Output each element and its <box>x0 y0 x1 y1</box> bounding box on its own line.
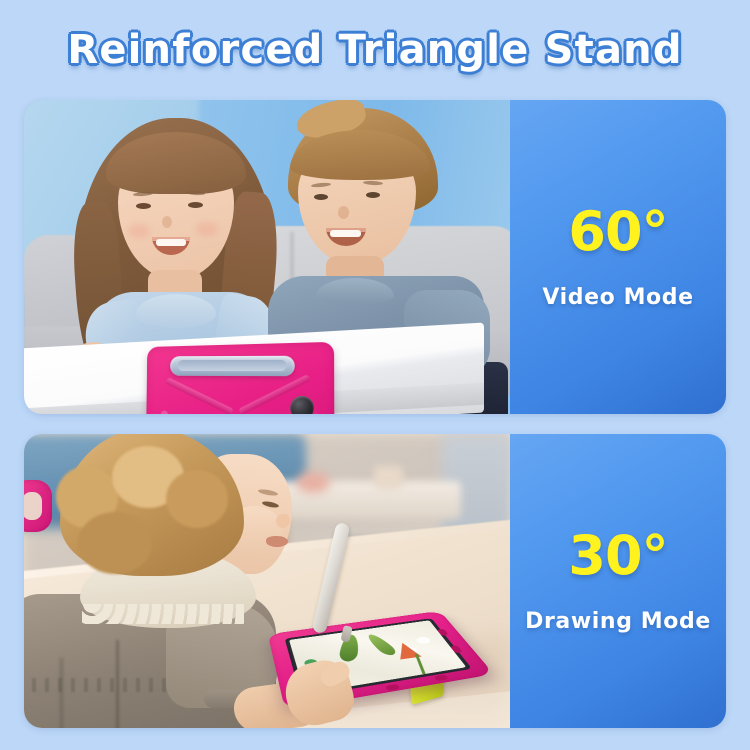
toddler-hair-curl <box>78 512 152 574</box>
toddler-lips <box>266 536 288 547</box>
boy-teeth <box>330 230 361 237</box>
toddler-collar-lace-trim <box>82 604 244 624</box>
vase-background <box>374 466 403 490</box>
feature-panel-drawing-mode: 30° Drawing Mode <box>24 434 726 728</box>
info-block-drawing-mode: 30° Drawing Mode <box>510 434 726 728</box>
camera-cutout-icon <box>290 396 314 414</box>
boy-eye-right <box>366 192 380 198</box>
girl-dress-collar <box>136 294 216 328</box>
girl-cheek-right <box>196 222 218 236</box>
toddler-nose <box>276 514 290 528</box>
page-title: Reinforced Triangle Stand <box>67 27 682 73</box>
boy-eye-left <box>314 194 328 200</box>
mode-label-video: Video Mode <box>542 285 693 310</box>
scene-living-room <box>24 100 510 414</box>
girl-nose <box>162 216 172 228</box>
mode-label-drawing: Drawing Mode <box>525 609 711 634</box>
girl-eye-left <box>136 203 151 209</box>
girl-eye-right <box>188 202 203 208</box>
girl-cheek-left <box>128 224 150 238</box>
angle-value-60: 60° <box>568 205 667 259</box>
info-block-video-mode: 60° Video Mode <box>510 100 726 414</box>
page-title-container: Reinforced Triangle Stand <box>0 20 750 80</box>
toddler-hair-curl <box>166 470 228 528</box>
photo-toddler-drawing-on-tablet <box>24 434 510 728</box>
pink-tablet-case-standing <box>142 344 332 414</box>
angle-value-30: 30° <box>568 529 667 583</box>
case-carry-handle-inner <box>178 360 287 371</box>
scene-playroom <box>24 434 510 728</box>
boy-nose <box>338 206 349 219</box>
feature-panel-video-mode: 60° Video Mode <box>24 100 726 414</box>
girl-teeth <box>156 239 186 246</box>
toddler-dress-fold <box>60 658 63 728</box>
photo-two-kids-watching-tablet-on-table <box>24 100 510 414</box>
